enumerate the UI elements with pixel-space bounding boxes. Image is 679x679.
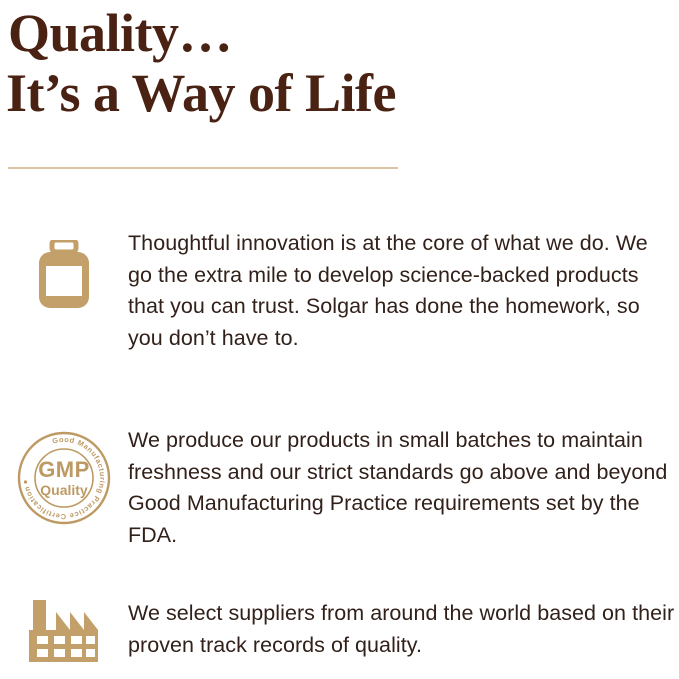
feature-icon-cell: Good Manufacturing Practice Certificatio… — [0, 425, 128, 526]
page-title-line-2: It’s a Way of Life — [6, 66, 666, 120]
page-title-line-1: Quality… — [8, 6, 666, 60]
feature-row-suppliers: We select suppliers from around the worl… — [0, 598, 679, 669]
gmp-quality-seal-icon: Good Manufacturing Practice Certificatio… — [16, 430, 112, 526]
factory-icon — [26, 598, 102, 669]
feature-text-suppliers: We select suppliers from around the worl… — [128, 598, 677, 661]
feature-text-cell: We select suppliers from around the worl… — [128, 598, 679, 661]
page-title: Quality… It’s a Way of Life — [6, 6, 666, 120]
feature-text-cell: Thoughtful innovation is at the core of … — [128, 228, 679, 354]
supplement-bottle-icon — [36, 240, 92, 315]
feature-text-cell: We produce our products in small batches… — [128, 425, 679, 551]
feature-text-manufacturing: We produce our products in small batches… — [128, 425, 677, 551]
feature-row-manufacturing: Good Manufacturing Practice Certificatio… — [0, 425, 679, 551]
quality-promise-page: Quality… It’s a Way of Life Thoughtful i… — [0, 0, 679, 679]
feature-icon-cell — [0, 598, 128, 669]
title-divider — [8, 167, 398, 169]
feature-row-innovation: Thoughtful innovation is at the core of … — [0, 228, 679, 354]
feature-text-innovation: Thoughtful innovation is at the core of … — [128, 228, 677, 354]
feature-icon-cell — [0, 228, 128, 315]
